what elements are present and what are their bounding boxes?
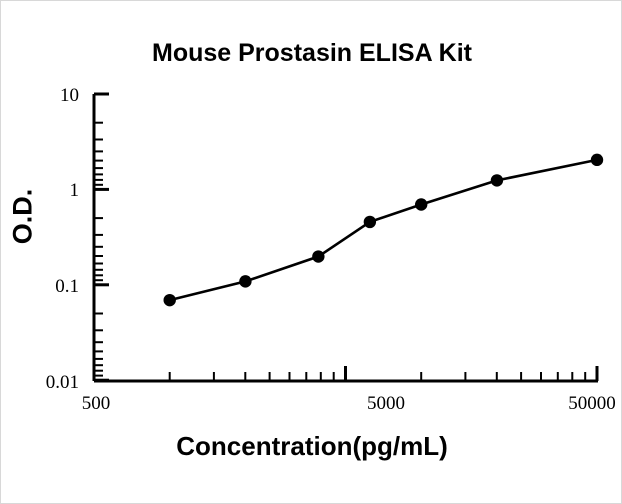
series-line — [170, 160, 597, 300]
x-axis-ticks — [94, 366, 597, 381]
data-point — [312, 250, 324, 262]
data-series — [164, 154, 604, 307]
data-point — [164, 294, 176, 306]
data-point — [239, 275, 251, 287]
data-point — [364, 216, 376, 228]
data-point — [491, 174, 503, 186]
chart-figure: Mouse Prostasin ELISA Kit O.D. Concentra… — [0, 0, 622, 504]
y-axis-ticks — [94, 94, 109, 380]
data-point — [591, 154, 603, 166]
plot-area — [1, 1, 622, 504]
data-point — [415, 198, 427, 210]
